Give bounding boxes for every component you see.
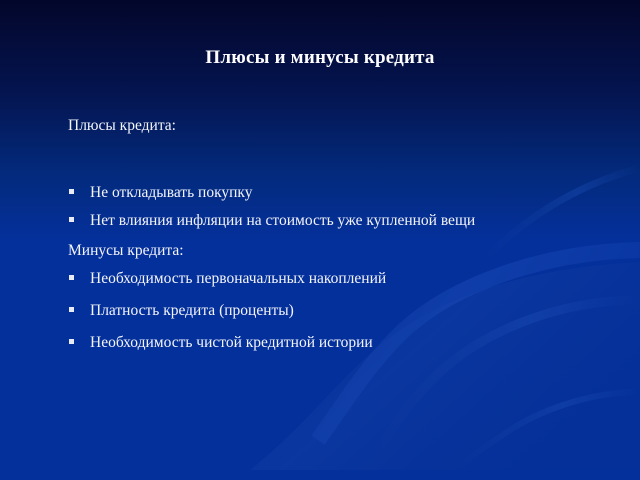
section-label-pluses: Плюсы кредита: [68,116,596,136]
list-item-label: Платность кредита (проценты) [90,302,294,319]
list-item: Платность кредита (проценты) [66,300,596,321]
spacer [66,231,596,241]
square-bullet-icon [69,307,74,312]
list-item: Не откладывать покупку [66,182,596,203]
square-bullet-icon [69,189,74,194]
list-item: Необходимость чистой кредитной истории [66,332,596,353]
square-bullet-icon [69,275,74,280]
list-item-label: Нет влияния инфляции на стоимость уже ку… [90,212,475,229]
list-item: Нет влияния инфляции на стоимость уже ку… [66,210,596,231]
list-item-label: Необходимость первоначальных накоплений [90,270,386,287]
page-title: Плюсы и минусы кредита [0,47,640,69]
slide-body: Плюсы кредита: Не откладывать покупку Не… [66,116,596,353]
list-item-label: Не откладывать покупку [90,184,253,201]
section-label-minuses: Минусы кредита: [68,241,596,261]
bullet-list-minuses: Необходимость первоначальных накоплений … [66,268,596,353]
presentation-slide: Плюсы и минусы кредита Плюсы кредита: Не… [0,0,640,480]
bullet-list-pluses: Не откладывать покупку Нет влияния инфля… [66,182,596,231]
slide-content: Плюсы и минусы кредита Плюсы кредита: Не… [0,0,640,480]
list-item: Необходимость первоначальных накоплений [66,268,596,289]
spacer [66,136,596,182]
list-item-label: Необходимость чистой кредитной истории [90,334,373,351]
square-bullet-icon [69,339,74,344]
spacer [66,261,596,268]
square-bullet-icon [69,217,74,222]
